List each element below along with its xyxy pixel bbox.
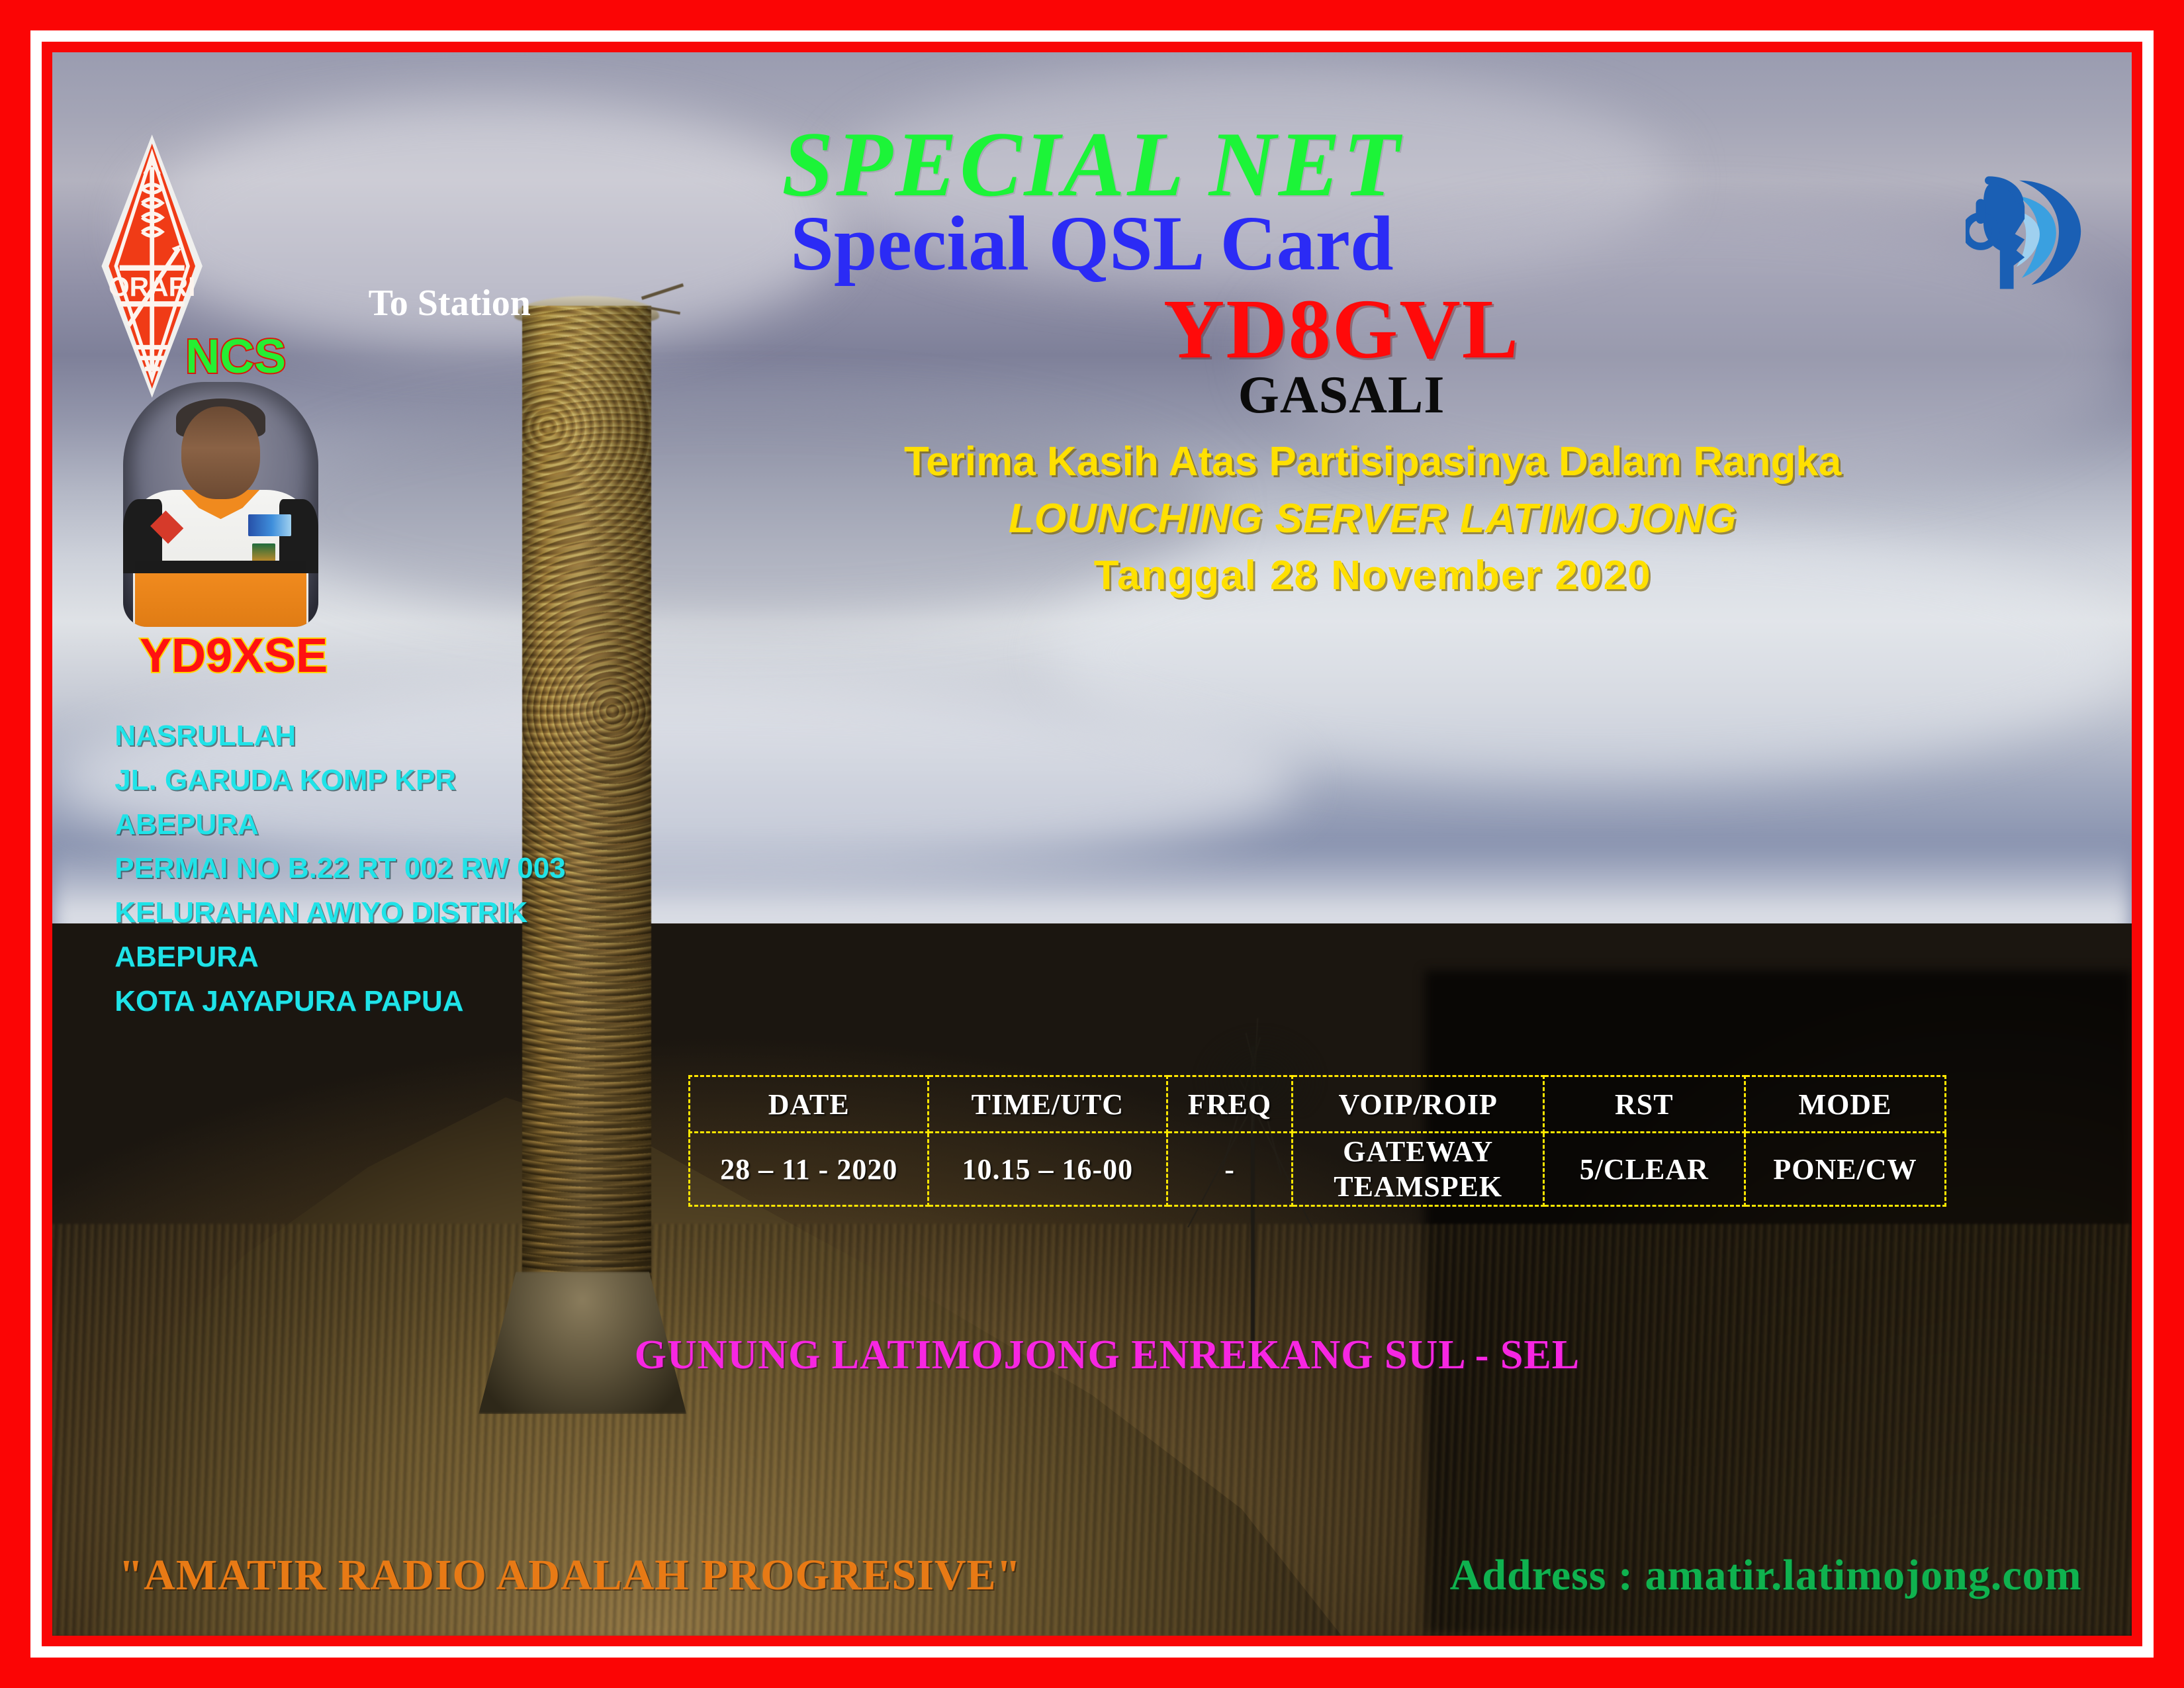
- cell-freq: -: [1167, 1133, 1293, 1206]
- address-line-3: ABEPURA: [114, 803, 565, 847]
- address-line-6: ABEPURA: [114, 935, 565, 980]
- footer-motto: "AMATIR RADIO ADALAH PROGRESIVE": [119, 1550, 1022, 1601]
- card-subtitle: Special QSL Card: [52, 205, 2132, 283]
- address-block: NASRULLAH JL. GARUDA KOMP KPR ABEPURA PE…: [114, 714, 565, 1024]
- column-header-date: DATE: [690, 1076, 929, 1133]
- card-overlay: ORARI: [52, 52, 2132, 1636]
- avatar-sash: [135, 573, 307, 628]
- cell-voip-line-1: GATEWAY: [1293, 1134, 1543, 1170]
- qso-table: DATE TIME/UTC FREQ VOIP/ROIP RST MODE 28…: [688, 1075, 1946, 1207]
- address-line-7: KOTA JAYAPURA PAPUA: [114, 980, 565, 1024]
- thanks-line-1: Terima Kasih Atas Partisipasinya Dalam R…: [904, 439, 1841, 485]
- cell-time: 10.15 – 16-00: [929, 1133, 1167, 1206]
- cell-voip: GATEWAY TEAMSPEK: [1293, 1133, 1544, 1206]
- card-inner-red-border: ORARI: [42, 42, 2142, 1646]
- address-line-5: KELURAHAN AWIYO DISTRIK: [114, 891, 565, 935]
- to-station-label: To Station: [369, 282, 531, 324]
- column-header-freq: FREQ: [1167, 1076, 1293, 1133]
- column-header-rst: RST: [1543, 1076, 1745, 1133]
- address-line-2: JL. GARUDA KOMP KPR: [114, 759, 565, 803]
- column-header-mode: MODE: [1745, 1076, 1946, 1133]
- location-caption: GUNUNG LATIMOJONG ENREKANG SUL - SEL: [635, 1332, 1580, 1379]
- address-line-4: PERMAI NO B.22 RT 002 RW 003: [114, 847, 565, 891]
- table-row: 28 – 11 - 2020 10.15 – 16-00 - GATEWAY T…: [690, 1133, 1946, 1206]
- column-header-voip: VOIP/ROIP: [1293, 1076, 1544, 1133]
- qsl-card: ORARI: [0, 0, 2184, 1688]
- column-header-time: TIME/UTC: [929, 1076, 1167, 1133]
- cell-date: 28 – 11 - 2020: [690, 1133, 929, 1206]
- avatar-chest-logo: [248, 514, 291, 536]
- page-title: SPECIAL NET: [52, 118, 2132, 211]
- background-photo: ORARI: [52, 52, 2132, 1636]
- thanks-line-3: Tanggal 28 November 2020: [686, 547, 2059, 604]
- thanks-line-2: LOUNCHING SERVER LATIMOJONG: [686, 491, 2059, 547]
- cell-rst: 5/CLEAR: [1543, 1133, 1745, 1206]
- address-line-1: NASRULLAH: [114, 714, 565, 759]
- ncs-callsign: YD9XSE: [140, 629, 328, 683]
- card-white-band: ORARI: [30, 30, 2154, 1658]
- table-header-row: DATE TIME/UTC FREQ VOIP/ROIP RST MODE: [690, 1076, 1946, 1133]
- station-operator-name: GASALI: [676, 369, 2007, 422]
- ncs-label: NCS: [185, 330, 286, 384]
- avatar-face: [181, 406, 259, 500]
- cell-mode: PONE/CW: [1745, 1133, 1946, 1206]
- cell-voip-line-2: TEAMSPEK: [1293, 1169, 1543, 1205]
- station-callsign: YD8GVL: [676, 287, 2007, 371]
- footer-website: Address : amatir.latimojong.com: [1450, 1550, 2082, 1601]
- operator-avatar: [123, 382, 318, 628]
- thanks-block: Terima Kasih Atas Partisipasinya Dalam R…: [686, 434, 2059, 604]
